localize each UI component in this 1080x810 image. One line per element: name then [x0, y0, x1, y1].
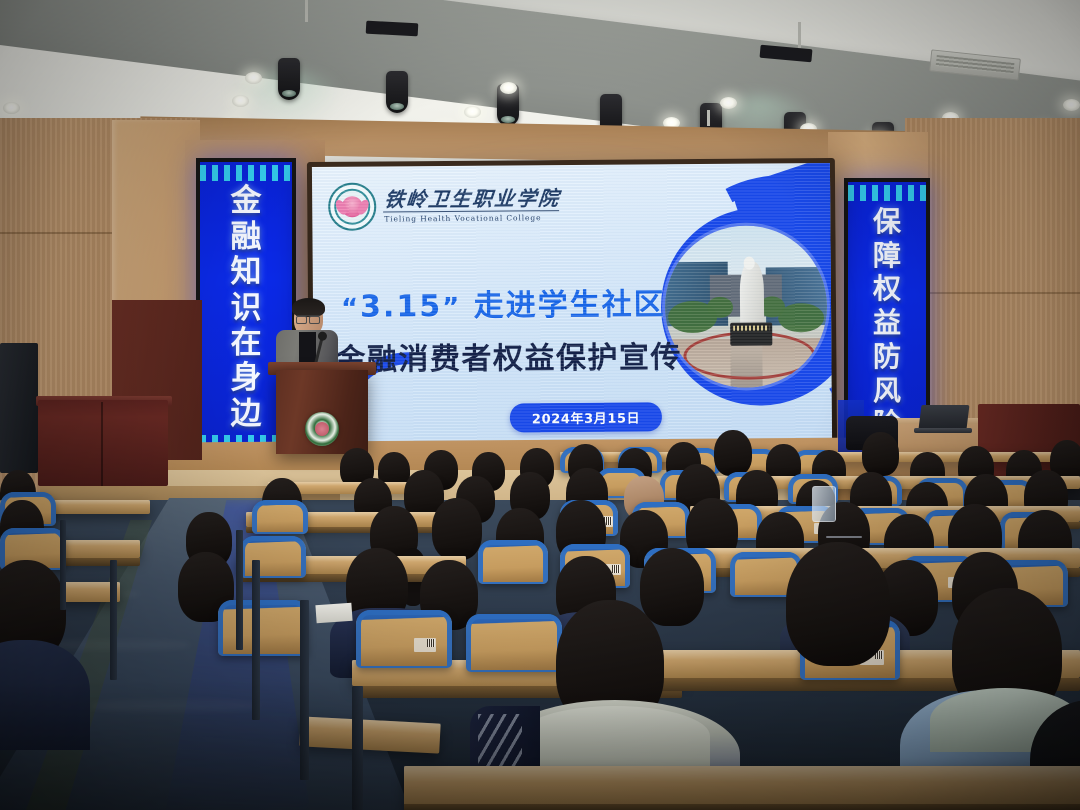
banner-left-char-1: 融: [231, 222, 262, 253]
recessed-downlight-icon: [3, 102, 20, 114]
ceiling-fixture-box: [366, 21, 419, 37]
banner-wave-top: [200, 165, 292, 181]
seat-frame: [240, 536, 306, 578]
floor-streak: [90, 700, 260, 712]
desk-leg: [60, 520, 66, 610]
banner-left-char-5: 身: [231, 363, 262, 394]
banner-left-char-2: 知: [231, 257, 262, 288]
audience-hood: [520, 706, 710, 766]
track-spotlight-icon: [386, 71, 408, 113]
slide-title-rest: 走进学生社区: [474, 287, 666, 324]
led-screen: 铁岭卫生职业学院 Tieling Health Vocational Colle…: [312, 163, 832, 445]
college-name-cn: 铁岭卫生职业学院: [383, 188, 561, 212]
ceiling-vent-icon: [936, 55, 1014, 73]
slide-title-line1: “3.15” 走进学生社区: [341, 279, 666, 326]
desk-leg: [252, 560, 260, 720]
banner-left-char-3: 识: [231, 293, 262, 324]
recessed-downlight-icon: [245, 72, 262, 84]
college-name-en: Tieling Health Vocational College: [384, 214, 560, 223]
desk-leg: [236, 530, 243, 650]
wall-monitor-icon: [0, 343, 38, 473]
track-spotlight-icon: [278, 58, 300, 100]
photo-statue: [739, 261, 764, 329]
banner-right-char-0: 保: [873, 208, 901, 236]
desk-leg: [352, 686, 363, 810]
ceiling-pendant-rod: [707, 110, 710, 126]
slide-title-number: 3.15: [360, 289, 442, 325]
banner-right-char-1: 障: [873, 242, 901, 270]
seat-frame: [218, 600, 308, 656]
seat-frame: [478, 540, 548, 584]
audience-glasses: [826, 536, 862, 538]
desk-edge-front: [404, 804, 1080, 810]
college-name-lockup: 铁岭卫生职业学院 Tieling Health Vocational Colle…: [384, 188, 560, 223]
desk-leg: [300, 600, 309, 780]
paper-sheet: [315, 603, 352, 623]
led-screen-bezel: 铁岭卫生职业学院 Tieling Health Vocational Colle…: [307, 158, 837, 450]
college-seal-icon: [305, 412, 339, 446]
photo-statue-head: [743, 256, 754, 269]
auditorium-scene: 金 融 知 识 在 身 边 保 障 权 益 防 风 险: [0, 0, 1080, 810]
banner-right-char-3: 益: [873, 309, 901, 337]
banner-right-char-5: 风: [873, 377, 901, 405]
photo-tree: [778, 303, 824, 333]
audience-head: [432, 498, 482, 560]
laptop-icon: [919, 405, 970, 429]
desk-leg: [110, 560, 117, 680]
ceiling-pendant-rod: [798, 22, 801, 48]
lotus-icon: [342, 196, 363, 217]
banner-wave-top: [848, 185, 926, 201]
seat-frame: [252, 500, 308, 534]
audience-head: [862, 432, 899, 476]
recessed-downlight-icon: [232, 95, 249, 107]
seat: [252, 500, 308, 534]
wall-seam: [905, 292, 1080, 294]
quote-close: ”: [442, 293, 461, 323]
recessed-downlight-icon: [720, 97, 737, 109]
quote-open: “: [341, 294, 360, 324]
campus-photo: [664, 225, 827, 388]
side-cabinet: [38, 400, 168, 486]
qr-code-sticker-icon: [414, 638, 436, 652]
slide-title-line2: 金融消费者权益保护宣传: [335, 332, 682, 379]
seat-frame: [466, 614, 562, 672]
banner-left-char-0: 金: [231, 186, 262, 217]
banner-left-char-6: 边: [231, 399, 262, 430]
seat: [466, 614, 562, 672]
water-bottle: [812, 486, 836, 522]
audience-head: [714, 430, 752, 476]
banner-right-char-4: 防: [873, 343, 901, 371]
laptop-base: [914, 428, 972, 433]
recessed-downlight-icon: [464, 106, 481, 118]
ceiling-pendant-rod: [305, 0, 308, 22]
recessed-downlight-icon: [500, 82, 517, 94]
speaker-glasses: [296, 315, 320, 322]
cabinet-door-seam: [101, 402, 103, 486]
seat: [478, 540, 548, 584]
photo-plinth-text: [733, 326, 769, 331]
recessed-downlight-icon: [1063, 99, 1080, 111]
seat: [218, 600, 308, 656]
seat-frame: [356, 610, 452, 668]
banner-left-char-4: 在: [231, 328, 262, 359]
slide-date-badge: 2024年3月15日: [510, 402, 663, 432]
seat: [356, 610, 452, 668]
banner-right-char-2: 权: [873, 275, 901, 303]
audience-head-foreground: [786, 542, 890, 666]
audience-head: [640, 548, 704, 626]
college-logo: 铁岭卫生职业学院 Tieling Health Vocational Colle…: [328, 181, 560, 231]
lotus-seal-icon: [328, 183, 376, 231]
seat: [240, 536, 306, 578]
